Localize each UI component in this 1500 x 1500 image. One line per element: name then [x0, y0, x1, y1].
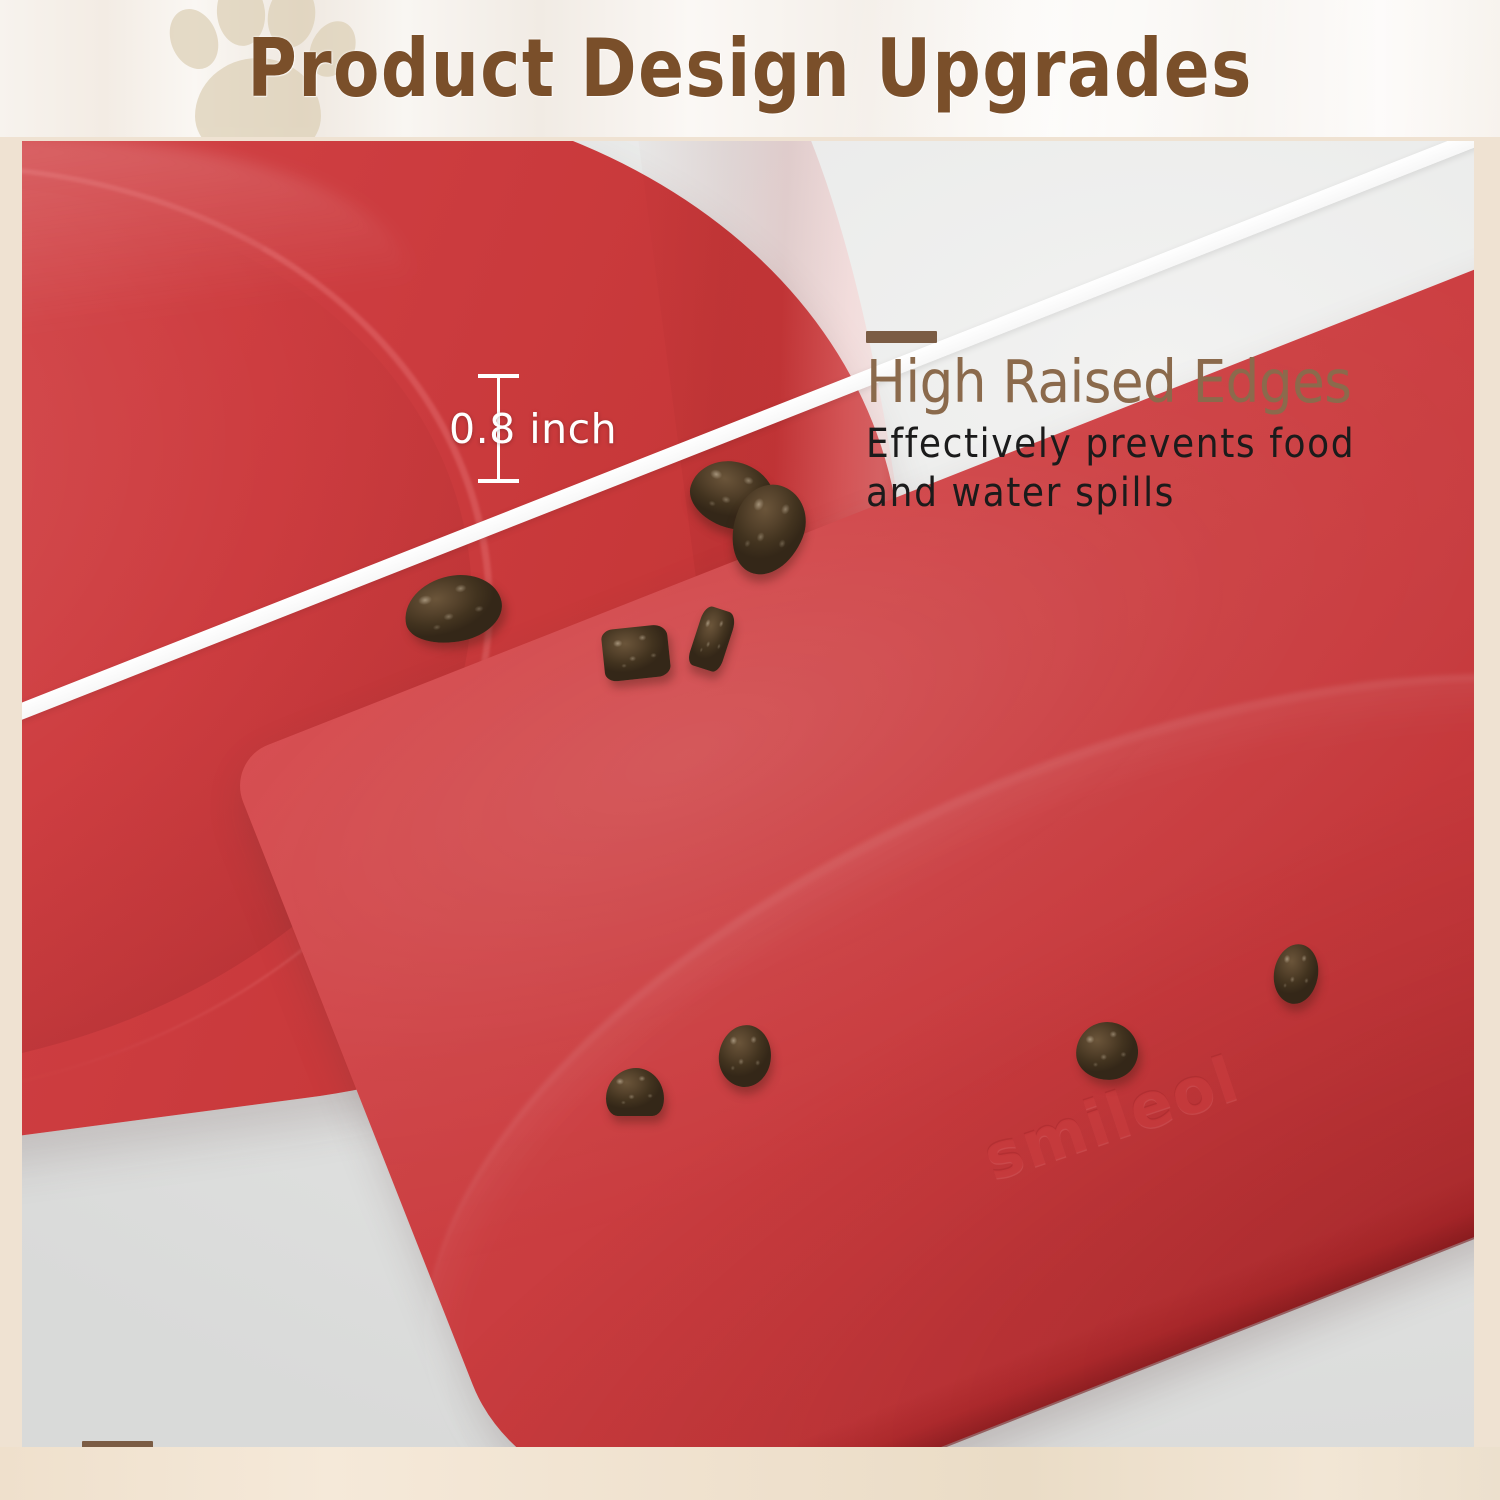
product-infographic: Product Design Upgrades smileol 0.8 in — [0, 0, 1500, 1500]
feature-high-raised-edges: High Raised Edges Effectively prevents f… — [866, 331, 1355, 518]
page-title: Product Design Upgrades — [45, 0, 1455, 137]
kibble-piece — [600, 624, 671, 683]
feature-subtitle-line-1: Effectively prevents food — [866, 420, 1355, 469]
feature-subtitle: Effectively prevents food and water spil… — [866, 420, 1355, 518]
accent-dash-icon — [866, 331, 937, 343]
measure-cap-bottom — [478, 479, 519, 483]
footer-background-strip — [0, 1447, 1500, 1500]
dimension-annotation: 0.8 inch — [454, 369, 634, 489]
dimension-label: 0.8 inch — [449, 405, 617, 453]
feature-title: High Raised Edges — [866, 352, 1355, 412]
feature-subtitle-line-2: and water spills — [866, 469, 1355, 518]
header-banner: Product Design Upgrades — [0, 0, 1500, 137]
product-photo-panel: smileol 0.8 inch High Raised Edges Effec… — [22, 141, 1474, 1447]
measure-cap-top — [478, 374, 519, 378]
